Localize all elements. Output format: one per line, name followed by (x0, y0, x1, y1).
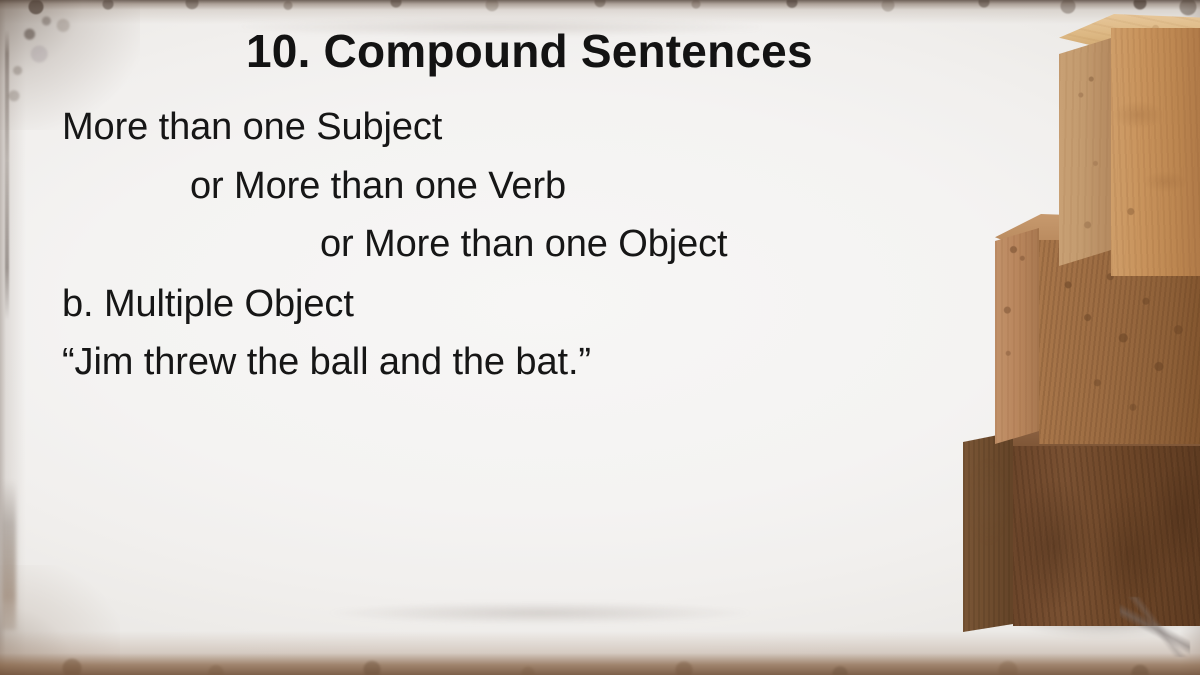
body-line-1: More than one Subject (62, 106, 442, 149)
body-line-2: or More than one Verb (190, 165, 566, 208)
body-line-5-quote: “Jim threw the ball and the bat.” (62, 341, 591, 384)
body-line-3: or More than one Object (320, 223, 727, 266)
page-title: 10. Compound Sentences (246, 24, 813, 78)
presentation-slide: 10. Compound Sentences More than one Sub… (0, 0, 1200, 675)
body-line-4: b. Multiple Object (62, 283, 354, 326)
slide-text-layer: 10. Compound Sentences More than one Sub… (0, 0, 1200, 675)
